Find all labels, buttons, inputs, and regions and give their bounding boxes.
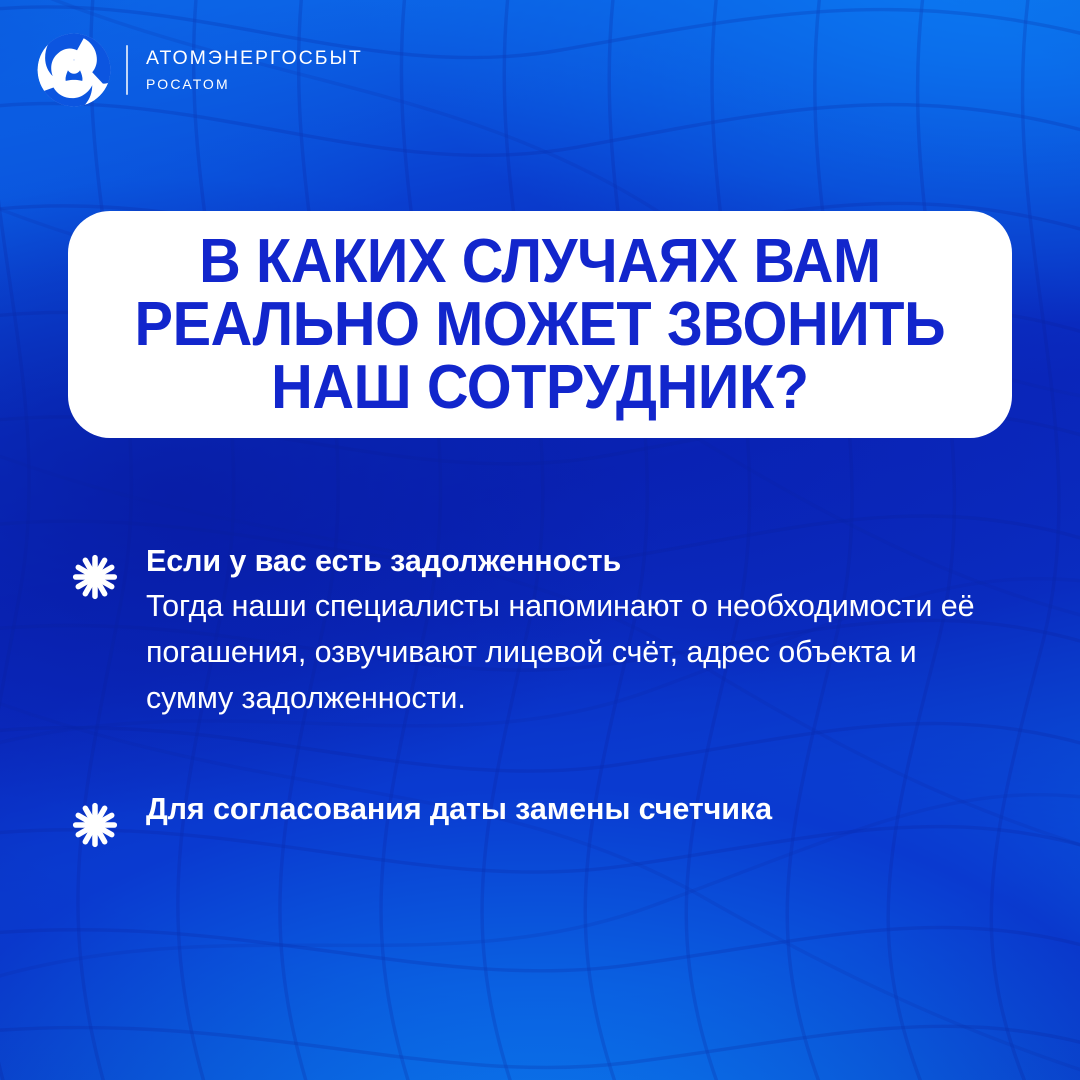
brand-logo: АТОМЭНЕРГОСБЫТ РОСАТОМ xyxy=(36,32,363,108)
list-item: Если у вас есть задолженность Тогда наши… xyxy=(72,540,1032,721)
list-item-heading: Для согласования даты замены счетчика xyxy=(146,788,772,830)
poster-canvas: АТОМЭНЕРГОСБЫТ РОСАТОМ В КАКИХ СЛУЧАЯХ В… xyxy=(0,0,1080,1080)
logo-divider xyxy=(126,45,128,95)
logo-wordmark: АТОМЭНЕРГОСБЫТ РОСАТОМ xyxy=(146,49,363,92)
title-card: В КАКИХ СЛУЧАЯХ ВАМ РЕАЛЬНО МОЖЕТ ЗВОНИТ… xyxy=(68,211,1012,438)
list-item-body: Для согласования даты замены счетчика xyxy=(146,788,772,832)
list-item: Для согласования даты замены счетчика xyxy=(72,788,1032,848)
list-item-body: Если у вас есть задолженность Тогда наши… xyxy=(146,540,996,721)
bullet-list: Если у вас есть задолженность Тогда наши… xyxy=(72,540,1032,848)
flower-burst-icon xyxy=(72,554,118,600)
rosatom-atom-icon xyxy=(36,32,112,108)
page-title: В КАКИХ СЛУЧАЯХ ВАМ РЕАЛЬНО МОЖЕТ ЗВОНИТ… xyxy=(116,230,964,420)
list-item-description: Тогда наши специалисты напоминают о необ… xyxy=(146,584,996,721)
logo-company-name: АТОМЭНЕРГОСБЫТ xyxy=(146,49,363,69)
list-item-heading: Если у вас есть задолженность xyxy=(146,540,996,582)
flower-burst-icon xyxy=(72,802,118,848)
logo-parent-name: РОСАТОМ xyxy=(146,77,363,91)
